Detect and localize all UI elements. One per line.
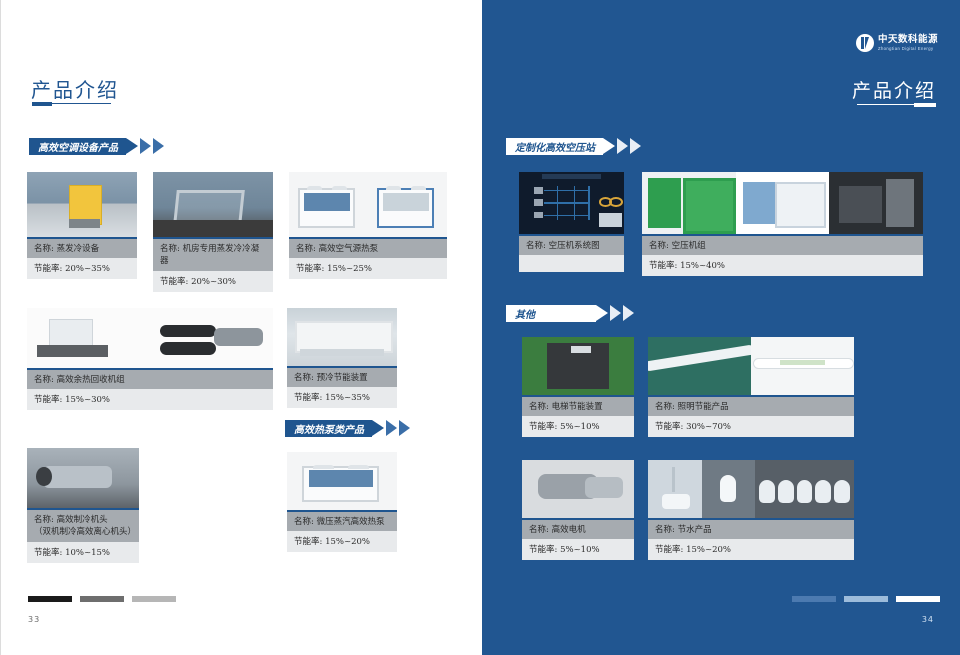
banner-chevron-icon-2 xyxy=(630,138,641,154)
footer-bar-2 xyxy=(844,596,888,602)
product-image-air-source-heat-pump-a xyxy=(289,172,368,237)
product-image-air-compressor-green xyxy=(642,172,736,234)
product-image-water-saving-urinal xyxy=(702,460,756,518)
product-image-water-saving-urinal-row xyxy=(755,460,854,518)
product-card-compressor-system-diagram[interactable]: 名称: 空压机系统图 xyxy=(519,172,624,272)
card-image-strip xyxy=(522,460,634,518)
product-image-air-source-heat-pump-b xyxy=(368,172,447,237)
product-saving-rate-empty xyxy=(519,255,624,272)
card-image-strip xyxy=(287,308,397,366)
product-image-led-tube-a xyxy=(648,337,751,395)
product-image-led-tube-b xyxy=(751,337,854,395)
presentation-spread: 产品介绍 高效空调设备产品 名称: 蒸发冷设备 节能率: 20%~35% 名称:… xyxy=(0,0,960,655)
logo-text: 中天数科能源 Zhongtian Digital Energy xyxy=(878,35,938,51)
product-saving-rate: 节能率: 15%~40% xyxy=(642,255,923,276)
product-card-centrifugal-chiller-head[interactable]: 名称: 高效制冷机头 （双机制冷高效离心机头） 节能率: 10%~15% xyxy=(27,448,139,563)
banner-chevron-icon xyxy=(140,138,151,154)
product-name: 名称: 高效空气源热泵 xyxy=(289,237,447,258)
footer-bar-2 xyxy=(80,596,124,602)
logo-mark-icon xyxy=(856,34,874,52)
card-image-strip xyxy=(648,460,854,518)
card-image-strip xyxy=(522,337,634,395)
product-card-pre-cooling-device[interactable]: 名称: 预冷节能装置 节能率: 15%~35% xyxy=(287,308,397,408)
product-name: 名称: 机房专用蒸发冷冷凝器 xyxy=(153,237,273,271)
product-card-water-saving[interactable]: 名称: 节水产品 节能率: 15%~20% xyxy=(648,460,854,560)
product-name: 名称: 高效电机 xyxy=(522,518,634,539)
product-name: 名称: 空压机组 xyxy=(642,234,923,255)
card-image-strip xyxy=(648,337,854,395)
product-card-evaporative-condenser[interactable]: 名称: 机房专用蒸发冷冷凝器 节能率: 20%~30% xyxy=(153,172,273,292)
product-saving-rate: 节能率: 5%~10% xyxy=(522,539,634,560)
banner-tip-icon xyxy=(126,138,138,154)
banner-chevron-icon xyxy=(617,138,628,154)
banner-chevron-icon-2 xyxy=(623,305,634,321)
product-name-line-2: （双机制冷高效离心机头） xyxy=(34,526,132,538)
product-name: 名称: 电梯节能装置 xyxy=(522,395,634,416)
banner-chevron-icon xyxy=(610,305,621,321)
footer-bar-1 xyxy=(28,596,72,602)
product-name: 名称: 节水产品 xyxy=(648,518,854,539)
page-title-left: 产品介绍 xyxy=(31,74,119,103)
logo-name-cn: 中天数科能源 xyxy=(878,35,938,45)
product-card-elevator-energy-saving[interactable]: 名称: 电梯节能装置 节能率: 5%~10% xyxy=(522,337,634,437)
section-banner-other-label: 其他 xyxy=(506,305,596,322)
product-image-evaporative-cooling-unit xyxy=(27,172,137,237)
product-image-screw-chiller xyxy=(150,308,273,368)
footer-bar-3 xyxy=(896,596,940,602)
product-saving-rate: 节能率: 30%~70% xyxy=(648,416,854,437)
card-image-strip xyxy=(287,452,397,510)
banner-chevron-icon-2 xyxy=(153,138,164,154)
company-logo: 中天数科能源 Zhongtian Digital Energy xyxy=(856,34,938,52)
card-image-strip xyxy=(27,172,137,237)
product-name: 名称: 微压蒸汽高效热泵 xyxy=(287,510,397,531)
banner-tip-icon xyxy=(372,420,384,436)
title-underline-left xyxy=(32,103,111,104)
section-banner-heat-pump: 高效热泵类产品 xyxy=(285,420,410,437)
product-saving-rate: 节能率: 20%~30% xyxy=(153,271,273,292)
product-card-steam-heat-pump[interactable]: 名称: 微压蒸汽高效热泵 节能率: 15%~20% xyxy=(287,452,397,552)
banner-tip-icon xyxy=(596,305,608,321)
product-name: 名称: 预冷节能装置 xyxy=(287,366,397,387)
product-saving-rate: 节能率: 5%~10% xyxy=(522,416,634,437)
product-saving-rate: 节能率: 15%~20% xyxy=(648,539,854,560)
card-image-strip xyxy=(153,172,273,237)
section-banner-air-compressor-label: 定制化高效空压站 xyxy=(506,138,603,155)
product-image-low-pressure-steam-heat-pump xyxy=(287,452,397,510)
product-image-high-efficiency-motor xyxy=(522,460,634,518)
product-card-high-efficiency-motor[interactable]: 名称: 高效电机 节能率: 5%~10% xyxy=(522,460,634,560)
product-saving-rate: 节能率: 10%~15% xyxy=(27,542,139,563)
product-card-air-source-heat-pump[interactable]: 名称: 高效空气源热泵 节能率: 15%~25% xyxy=(289,172,447,279)
product-image-data-center-evaporative-condenser xyxy=(153,172,273,237)
product-image-elevator-energy-saving-drive xyxy=(522,337,634,395)
product-image-pre-cooling-energy-saving-device xyxy=(287,308,397,366)
product-name: 名称: 照明节能产品 xyxy=(648,395,854,416)
product-name-line-1: 名称: 高效制冷机头 xyxy=(34,514,132,526)
section-banner-other: 其他 xyxy=(506,305,634,322)
banner-chevron-icon-2 xyxy=(399,420,410,436)
section-banner-heat-pump-label: 高效热泵类产品 xyxy=(285,420,372,437)
product-card-lighting-energy-saving[interactable]: 名称: 照明节能产品 节能率: 30%~70% xyxy=(648,337,854,437)
product-image-waste-heat-recovery-unit xyxy=(27,308,150,368)
left-page: 产品介绍 高效空调设备产品 名称: 蒸发冷设备 节能率: 20%~35% 名称:… xyxy=(0,0,482,655)
footer-bar-3 xyxy=(132,596,176,602)
product-image-air-compressor-system-diagram xyxy=(519,172,624,234)
card-image-strip xyxy=(289,172,447,237)
section-banner-air-compressor: 定制化高效空压站 xyxy=(506,138,641,155)
product-card-evaporative-cooling[interactable]: 名称: 蒸发冷设备 节能率: 20%~35% xyxy=(27,172,137,279)
card-image-strip xyxy=(519,172,624,234)
page-title-right: 产品介绍 xyxy=(852,76,936,103)
product-card-waste-heat-recovery[interactable]: 名称: 高效余热回收机组 节能率: 15%~30% xyxy=(27,308,273,410)
product-image-air-compressor-blue xyxy=(736,172,830,234)
banner-chevron-icon xyxy=(386,420,397,436)
footer-progress-left xyxy=(28,596,176,602)
footer-progress-right xyxy=(792,596,940,602)
card-image-strip xyxy=(27,308,273,368)
card-image-strip xyxy=(27,448,139,508)
product-saving-rate: 节能率: 15%~20% xyxy=(287,531,397,552)
banner-tip-icon xyxy=(603,138,615,154)
product-saving-rate: 节能率: 15%~25% xyxy=(289,258,447,279)
product-saving-rate: 节能率: 15%~35% xyxy=(287,387,397,408)
product-name: 名称: 高效制冷机头 （双机制冷高效离心机头） xyxy=(27,508,139,542)
page-number-right: 34 xyxy=(922,615,934,624)
section-banner-hvac: 高效空调设备产品 xyxy=(29,138,164,155)
footer-bar-1 xyxy=(792,596,836,602)
product-saving-rate: 节能率: 20%~35% xyxy=(27,258,137,279)
title-underline-right xyxy=(857,104,936,105)
product-image-water-saving-sink xyxy=(648,460,702,518)
logo-name-en: Zhongtian Digital Energy xyxy=(878,47,938,51)
product-card-air-compressor-unit[interactable]: 名称: 空压机组 节能率: 15%~40% xyxy=(642,172,923,276)
card-image-strip xyxy=(642,172,923,234)
page-number-left: 33 xyxy=(28,615,40,624)
product-image-air-compressor-dark xyxy=(829,172,923,234)
product-saving-rate: 节能率: 15%~30% xyxy=(27,389,273,410)
section-banner-hvac-label: 高效空调设备产品 xyxy=(29,138,126,155)
product-name: 名称: 空压机系统图 xyxy=(519,234,624,255)
right-page: 中天数科能源 Zhongtian Digital Energy 产品介绍 定制化… xyxy=(482,0,960,655)
product-name: 名称: 高效余热回收机组 xyxy=(27,368,273,389)
product-name: 名称: 蒸发冷设备 xyxy=(27,237,137,258)
product-image-centrifugal-compressor-head xyxy=(27,448,139,508)
